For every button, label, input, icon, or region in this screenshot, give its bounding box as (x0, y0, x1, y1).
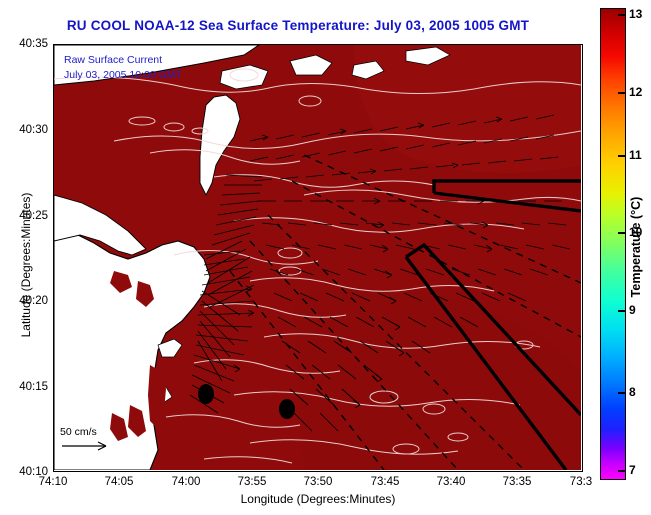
current-annotation: Raw Surface Current July 03, 2005 10:00 … (64, 53, 182, 83)
vector-scale-label: 50 cm/s (60, 426, 114, 438)
sst-map-figure: RU COOL NOAA-12 Sea Surface Temperature:… (0, 0, 651, 515)
station-marker[interactable] (198, 384, 214, 404)
colorbar (600, 8, 626, 480)
station-marker[interactable] (279, 399, 295, 419)
map-graphics (54, 45, 581, 470)
colorbar-tick-label: 12 (629, 85, 642, 99)
colorbar-tick-label: 11 (629, 148, 642, 162)
xtick-label: 73:45 (371, 476, 400, 488)
xtick-label: 74:05 (105, 476, 134, 488)
colorbar-tick-label: 13 (629, 7, 642, 21)
y-axis-label: Latitude (Degrees:Minutes) (19, 155, 33, 375)
ytick-label: 40:35 (6, 38, 48, 50)
ytick-label: 40:10 (6, 466, 48, 478)
ytick-label: 40:15 (6, 381, 48, 393)
colorbar-tick-label: 8 (629, 385, 636, 399)
map-plot-area[interactable]: Raw Surface Current July 03, 2005 10:00 … (53, 44, 583, 472)
xtick-label: 73:50 (304, 476, 333, 488)
xtick-label: 73:3 (570, 476, 592, 488)
colorbar-tick-label: 7 (629, 463, 636, 477)
map-canvas: Raw Surface Current July 03, 2005 10:00 … (54, 45, 582, 471)
annotation-line-2: July 03, 2005 10:00 GMT (64, 68, 182, 83)
xtick-label: 73:35 (503, 476, 532, 488)
colorbar-label: Temperature (°C) (629, 167, 643, 327)
xtick-label: 74:00 (172, 476, 201, 488)
vector-scale-arrow-icon (60, 439, 114, 453)
vector-scale-key: 50 cm/s (60, 426, 114, 453)
annotation-line-1: Raw Surface Current (64, 53, 182, 68)
figure-title: RU COOL NOAA-12 Sea Surface Temperature:… (0, 18, 596, 33)
xtick-label: 73:55 (238, 476, 267, 488)
xtick-label: 73:40 (437, 476, 466, 488)
x-axis-label: Longitude (Degrees:Minutes) (53, 492, 583, 506)
ytick-label: 40:30 (6, 124, 48, 136)
